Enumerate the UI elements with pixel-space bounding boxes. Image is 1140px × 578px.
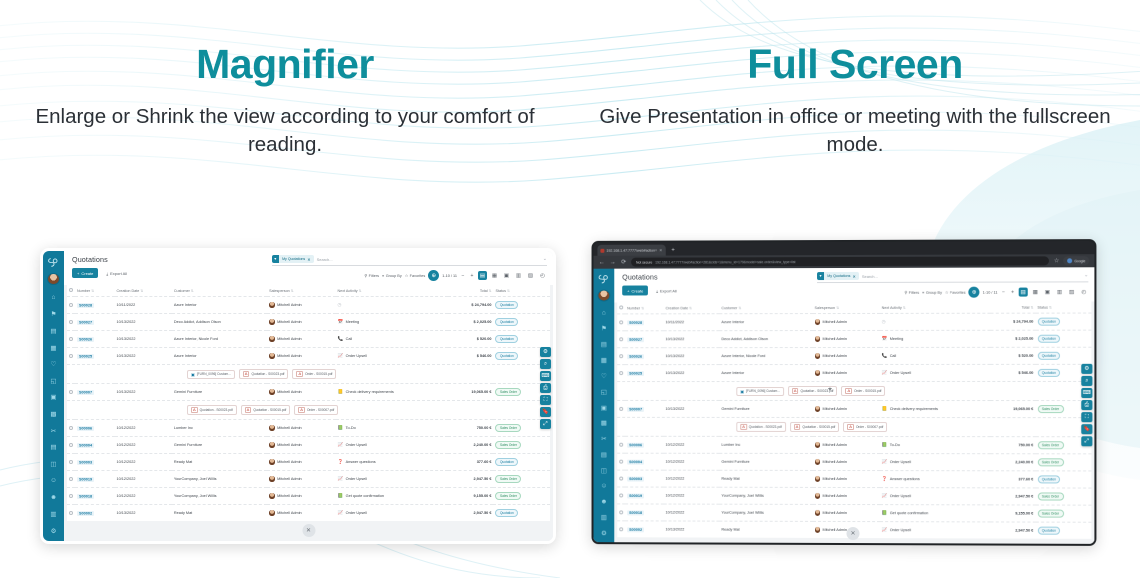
table-row[interactable]: S00019 10/12/2022 YourCompany, Joel Will… — [67, 470, 550, 487]
table-row[interactable]: S00026 10/13/2022 Azure Interior, Nicole… — [67, 330, 550, 347]
calendar-view-icon[interactable]: ▣ — [1043, 287, 1052, 296]
activity-icon: 📈 — [882, 371, 888, 376]
cell-customer: Gemini Furniture — [172, 436, 267, 453]
column-header-salesperson[interactable]: Salesperson ⇅ — [813, 302, 880, 313]
status-badge: Sales Order — [1037, 492, 1063, 500]
clock-icon: ◷ — [338, 302, 342, 307]
create-button[interactable]: + Create — [72, 268, 98, 278]
cell-next-activity[interactable]: 📞Call — [336, 330, 449, 347]
sidebar-item-bell[interactable]: ⌂ — [597, 307, 610, 319]
cell-salesperson: Mitchell Admin — [267, 436, 335, 453]
sidebar-item-heart[interactable]: ♡ — [597, 370, 610, 382]
column-header-creation_date[interactable]: Creation Date ⇅ — [664, 302, 720, 313]
favorites-label: Favorites — [950, 290, 966, 294]
close-fab-button[interactable]: ✕ — [302, 524, 315, 537]
cell-customer: Ready Mat — [719, 521, 812, 538]
filters-button[interactable]: ⚲ Filters — [364, 273, 379, 278]
close-icon[interactable]: ✕ — [659, 248, 662, 253]
cell-total: 750.00 € — [991, 436, 1036, 453]
cell-next-activity[interactable]: 📗Get quote confirmation — [880, 504, 991, 521]
pager-prev-icon[interactable]: − — [1001, 289, 1007, 295]
cell-next-activity[interactable]: 📈Order Upsell — [880, 487, 991, 504]
kanban-view-icon[interactable]: ▦ — [1031, 288, 1040, 297]
magnifier-icon[interactable]: ⌕ — [540, 359, 551, 369]
cell-salesperson: Mitchell Admin — [813, 313, 880, 330]
cell-number[interactable]: S00026 — [75, 330, 115, 347]
filters-label: Filters — [909, 290, 919, 294]
sidebar-item-megaphone[interactable]: ⚑ — [597, 323, 610, 335]
pager-prev-icon[interactable]: − — [460, 273, 466, 279]
column-header-number[interactable]: Number ⇅ — [625, 302, 663, 313]
sidebar-item-apps[interactable]: ▩ — [597, 417, 610, 429]
cell-number[interactable]: S00007 — [625, 400, 663, 417]
cell-number[interactable]: S00007 — [75, 383, 115, 400]
sidebar-item-apps[interactable]: ▩ — [47, 408, 60, 421]
row-checkbox[interactable] — [67, 453, 75, 470]
cell-salesperson: Mitchell Admin — [267, 330, 335, 347]
quotations-table-wrapper[interactable]: Number ⇅Creation Date ⇅Customer ⇅Salespe… — [614, 301, 1094, 544]
table-row[interactable]: S00026 10/13/2022 Azure Interior, Nicole… — [617, 347, 1091, 364]
cell-next-activity[interactable]: 📈Order Upsell — [336, 347, 449, 364]
cell-next-activity[interactable]: 📈Order Upsell — [336, 470, 449, 487]
row-checkbox[interactable] — [617, 364, 625, 381]
cell-next-activity[interactable]: 📈Order Upsell — [880, 453, 991, 470]
cell-customer: YourCompany, Joel Willis — [719, 504, 812, 521]
back-icon[interactable]: ← — [598, 259, 605, 265]
attachment-chip[interactable]: AQuotation - S00015.pdf — [790, 422, 840, 432]
sidebar-item-book[interactable]: ▦ — [47, 341, 60, 354]
list-view-icon[interactable]: ▤ — [1019, 288, 1028, 297]
filters-button[interactable]: ⚲ Filters — [904, 290, 919, 295]
sidebar-item-megaphone[interactable]: ⚑ — [47, 308, 60, 321]
row-checkbox[interactable] — [617, 436, 625, 453]
cell-creation-date: 10/12/2022 — [115, 436, 172, 453]
table-row[interactable]: S00025 10/13/2022 Azure Interior Mitchel… — [617, 364, 1091, 381]
attachment-chip[interactable]: AQuotation - S00023.pdf — [239, 369, 289, 379]
table-row[interactable]: S00027 10/13/2022 Deco Addict, Addison O… — [617, 330, 1091, 348]
close-icon[interactable]: ✕ — [307, 257, 310, 262]
download-icon: ⤓ — [656, 288, 658, 293]
cell-next-activity[interactable]: ◷ — [336, 296, 449, 313]
chevron-down-icon[interactable]: ⌄ — [543, 256, 547, 262]
cell-status: Quotation — [1035, 522, 1091, 539]
sidebar-item-scissors[interactable]: ✂ — [47, 424, 60, 437]
sort-icon: ⇅ — [689, 306, 692, 310]
cell-number[interactable]: S00004 — [75, 436, 115, 453]
row-checkbox[interactable] — [617, 487, 625, 504]
settings-icon[interactable]: ⚙ — [540, 347, 551, 357]
cell-customer: Ready Mat — [719, 470, 812, 487]
cell-customer: YourCompany, Joel Willis — [719, 487, 812, 504]
activity-view-icon[interactable]: ◴ — [538, 271, 547, 280]
export-all-label: Export All — [110, 271, 127, 276]
activity-icon: 📅 — [338, 320, 344, 325]
sidebar-item-box[interactable]: ◫ — [47, 458, 60, 471]
sidebar-item-gear[interactable]: ⚙ — [47, 524, 60, 537]
table-row[interactable]: S00028 10/11/2022 Azure Interior Mitchel… — [67, 296, 550, 313]
close-icon[interactable]: ✕ — [852, 273, 855, 278]
row-checkbox[interactable] — [617, 400, 625, 417]
cell-next-activity[interactable]: 📈Order Upsell — [880, 521, 991, 538]
column-header-status[interactable]: Status ⇅ — [493, 285, 550, 296]
app-sidebar-rail: ⌂ ⚑ ▤ ▦ ♡ ◱ ▣ ▩ ✂ ▤ ◫ ☺ ☻ ▥ ⚙ — [43, 251, 64, 541]
column-header-number[interactable]: Number ⇅ — [75, 285, 115, 296]
bookmark-star-icon[interactable]: ☆ — [1053, 257, 1060, 264]
magnifier-button[interactable]: ⊕ — [428, 270, 439, 281]
cell-salesperson: Mitchell Admin — [813, 436, 880, 453]
cell-creation-date: 10/12/2022 — [115, 453, 172, 470]
magnifier-icon[interactable]: ⌕ — [1081, 376, 1092, 386]
table-row[interactable]: S00006 10/12/2022 Lumber Inc Mitchell Ad… — [617, 436, 1091, 454]
select-all-checkbox[interactable] — [67, 285, 75, 296]
cell-number[interactable]: S00028 — [75, 296, 115, 313]
pdf-file-icon: A — [243, 371, 250, 377]
cell-creation-date: 10/13/2022 — [115, 383, 172, 400]
sidebar-item-bell[interactable]: ⌂ — [47, 291, 60, 304]
activity-icon: 📗 — [338, 494, 344, 499]
cell-number[interactable]: S00002 — [75, 504, 115, 521]
activity-icon: 📗 — [882, 511, 888, 516]
avatar — [269, 459, 275, 465]
sidebar-item-calendar[interactable]: ▤ — [47, 325, 60, 338]
avatar — [269, 336, 275, 342]
cell-creation-date: 10/13/2022 — [664, 347, 720, 364]
favorites-button[interactable]: ☆ Favorites — [405, 273, 426, 278]
table-row[interactable]: S00027 10/13/2022 Deco Addict, Addison O… — [67, 313, 550, 330]
sidebar-item-box[interactable]: ◫ — [597, 465, 610, 477]
sort-icon: ⇅ — [191, 289, 194, 293]
row-checkbox[interactable] — [617, 330, 625, 347]
cell-status: Quotation — [493, 313, 550, 330]
fullscreen-icon[interactable]: ⛶ — [540, 395, 551, 405]
cell-next-activity[interactable]: 📗To-Do — [336, 419, 449, 436]
browser-tab[interactable]: 192.168.1.47:7777/web#action= ✕ — [597, 245, 665, 256]
row-checkbox[interactable] — [617, 470, 625, 487]
cell-salesperson: Mitchell Admin — [813, 347, 880, 364]
sidebar-item-heart[interactable]: ♡ — [47, 358, 60, 371]
expand-icon[interactable]: ⤢ — [540, 419, 551, 429]
calendar-view-icon[interactable]: ▣ — [502, 271, 511, 280]
cell-number[interactable]: S00006 — [75, 419, 115, 436]
sidebar-item-book[interactable]: ▦ — [597, 354, 610, 366]
cell-creation-date: 10/11/2022 — [115, 296, 172, 313]
cell-next-activity[interactable]: 📗To-Do — [880, 436, 991, 453]
column-header-next_activity[interactable]: Next Activity ⇅ — [880, 302, 991, 313]
cell-salesperson: Mitchell Admin — [813, 504, 880, 521]
reload-icon[interactable]: ⟳ — [620, 259, 627, 266]
cell-creation-date: 10/13/2022 — [115, 313, 172, 330]
group-by-label: Group By — [926, 290, 942, 294]
table-row[interactable]: S00006 10/12/2022 Lumber Inc Mitchell Ad… — [67, 419, 550, 436]
magnifier-button[interactable]: ⊕ — [969, 287, 980, 298]
cell-total: $ 24,794.00 — [448, 296, 493, 313]
cell-number[interactable]: S00019 — [75, 470, 115, 487]
cell-next-activity[interactable]: 📗Get quote confirmation — [336, 487, 449, 504]
create-button[interactable]: + Create — [622, 285, 648, 295]
table-row[interactable]: S00004 10/12/2022 Gemini Furniture Mitch… — [67, 436, 550, 453]
pager-value: 1-10 / 11 — [983, 290, 998, 294]
select-all-checkbox[interactable] — [617, 302, 625, 313]
cell-status: Quotation — [493, 453, 550, 470]
cell-salesperson: Mitchell Admin — [267, 296, 335, 313]
cell-next-activity[interactable]: ◷ — [880, 313, 991, 330]
cell-status: Quotation — [1035, 347, 1091, 364]
list-view-icon[interactable]: ▤ — [478, 271, 487, 280]
column-header-total[interactable]: Total ⇅ — [448, 285, 493, 296]
cell-status: Quotation — [493, 296, 550, 313]
sidebar-item-scissors[interactable]: ✂ — [597, 433, 610, 445]
attachment-chip[interactable]: AOrder - S00007.pdf — [843, 422, 887, 432]
attachment-chip[interactable]: ▣[FURN_0096] Custom... — [736, 387, 784, 396]
search-bar[interactable]: ▼ My Quotations ✕ Search... ⌄ — [817, 271, 1089, 283]
pager-next-icon[interactable]: + — [469, 273, 475, 279]
keyboard-icon[interactable]: ⌨ — [1081, 388, 1092, 398]
table-row[interactable]: S00003 10/12/2022 Ready Mat Mitchell Adm… — [617, 470, 1091, 488]
row-checkbox[interactable] — [617, 503, 625, 520]
row-checkbox[interactable] — [67, 470, 75, 487]
cell-next-activity[interactable]: 📈Order Upsell — [336, 504, 449, 521]
cell-next-activity[interactable]: 📅Meeting — [880, 330, 991, 347]
cell-number[interactable]: S00028 — [625, 313, 663, 330]
search-input[interactable]: Search... — [862, 273, 1081, 279]
attachment-chip[interactable]: AQuotation - S00023.pdf — [187, 405, 237, 415]
search-facet-label: My Quotations — [827, 274, 850, 278]
cell-next-activity[interactable]: ❓Answer questions — [880, 470, 991, 487]
table-row[interactable]: S00004 10/12/2022 Gemini Furniture Mitch… — [617, 453, 1091, 471]
cell-next-activity[interactable]: 📈Order Upsell — [880, 364, 991, 381]
cell-status: Quotation — [493, 330, 550, 347]
row-checkbox[interactable] — [67, 383, 75, 400]
quotations-table-wrapper[interactable]: Number ⇅Creation Date ⇅Customer ⇅Salespe… — [64, 285, 553, 541]
attachment-chip[interactable]: AOrder - S00007.pdf — [294, 405, 338, 415]
status-badge: Quotation — [1037, 318, 1060, 326]
status-badge: Quotation — [495, 301, 518, 309]
cell-number[interactable]: S00019 — [625, 487, 663, 504]
activity-icon: ❓ — [338, 460, 344, 465]
cell-salesperson: Mitchell Admin — [813, 330, 880, 347]
cell-total: $ 2,025.00 — [991, 330, 1036, 347]
activity-icon: ❓ — [882, 477, 888, 482]
column-header-total[interactable]: Total ⇅ — [991, 302, 1036, 313]
bookmark-icon[interactable]: 🔖 — [540, 407, 551, 417]
pdf-file-icon: A — [845, 388, 852, 394]
cell-number[interactable]: S00004 — [625, 453, 663, 470]
row-checkbox[interactable] — [617, 520, 625, 537]
sidebar-item-person[interactable]: ☺ — [47, 474, 60, 487]
search-facet-my-quotations[interactable]: ▼ My Quotations ✕ — [272, 255, 314, 263]
graph-view-icon[interactable]: ▨ — [1067, 287, 1076, 296]
attachment-chip[interactable]: AOrder - S00015.pdf — [841, 386, 885, 396]
browser-chrome: 192.168.1.47:7777/web#action= ✕ + ← → ⟳ … — [594, 241, 1095, 269]
favorites-button[interactable]: ☆ Favorites — [945, 290, 966, 295]
activity-icon: 📞 — [882, 354, 888, 359]
table-body: S00028 10/11/2022 Azure Interior Mitchel… — [617, 313, 1091, 539]
avatar[interactable] — [597, 289, 610, 301]
keyboard-icon[interactable]: ⌨ — [540, 371, 551, 381]
odoo-logo-icon — [596, 273, 611, 287]
cell-customer: Ready Mat — [172, 453, 267, 470]
export-all-button[interactable]: ⤓ Export All — [652, 285, 680, 295]
cell-number[interactable]: S00027 — [625, 330, 663, 347]
sidebar-item-building[interactable]: ▥ — [597, 512, 610, 524]
table-row[interactable]: S00002 10/13/2022 Ready Mat Mitchell Adm… — [67, 504, 550, 521]
column-header-customer[interactable]: Customer ⇅ — [719, 302, 812, 313]
cell-customer: YourCompany, Joel Willis — [172, 470, 267, 487]
sidebar-item-briefcase[interactable]: ▤ — [597, 449, 610, 461]
omnibox[interactable]: Not secure 192.168.1.47:7777/web#action=… — [631, 256, 1049, 266]
profile-label: Google — [1074, 259, 1085, 263]
table-row[interactable]: S00025 10/13/2022 Azure Interior Mitchel… — [67, 347, 550, 364]
sidebar-item-gear[interactable]: ⚙ — [597, 527, 610, 539]
new-tab-button[interactable]: + — [668, 246, 677, 256]
attachment-label: Quotation - S00023.pdf — [200, 408, 233, 412]
activity-view-icon[interactable]: ◴ — [1079, 287, 1088, 296]
cell-number[interactable]: S00025 — [625, 364, 663, 381]
sidebar-item-briefcase[interactable]: ▤ — [47, 441, 60, 454]
cell-number[interactable]: S00026 — [625, 347, 663, 364]
group-by-button[interactable]: ≡ Group By — [922, 290, 942, 294]
print-icon[interactable]: ⎙ — [540, 383, 551, 393]
status-badge: Sales Order — [1037, 510, 1063, 518]
sidebar-item-grid[interactable]: ▣ — [597, 402, 610, 414]
cell-customer: Azure Interior — [172, 296, 267, 313]
row-checkbox[interactable] — [67, 487, 75, 504]
cell-number[interactable]: S00003 — [625, 470, 663, 487]
column-header-customer[interactable]: Customer ⇅ — [172, 285, 267, 296]
cell-number[interactable]: S00025 — [75, 347, 115, 364]
row-checkbox[interactable] — [67, 296, 75, 313]
cell-number[interactable]: S00003 — [75, 453, 115, 470]
cell-next-activity[interactable]: 📅Meeting — [336, 313, 449, 330]
column-header-creation_date[interactable]: Creation Date ⇅ — [115, 285, 172, 296]
cell-creation-date: 10/12/2022 — [664, 436, 720, 453]
fullscreen-icon[interactable]: ⛶ — [1081, 412, 1092, 422]
sidebar-item-chart[interactable]: ◱ — [47, 375, 60, 388]
cell-number[interactable]: S00006 — [625, 436, 663, 453]
row-checkbox[interactable] — [67, 330, 75, 347]
cell-next-activity[interactable]: 📞Call — [880, 347, 991, 364]
pager-next-icon[interactable]: + — [1010, 289, 1016, 295]
graph-view-icon[interactable]: ▨ — [526, 271, 535, 280]
sidebar-item-calendar[interactable]: ▤ — [597, 339, 610, 351]
cell-number[interactable]: S00018 — [625, 503, 663, 520]
quotations-table: Number ⇅Creation Date ⇅Customer ⇅Salespe… — [67, 285, 550, 521]
avatar — [815, 353, 820, 359]
row-checkbox[interactable] — [617, 313, 625, 330]
print-icon[interactable]: ⎙ — [1081, 400, 1092, 410]
cell-number[interactable]: S00018 — [75, 487, 115, 504]
sort-icon: ⇅ — [489, 289, 492, 293]
attachment-chip[interactable]: AQuotation - S00023.pdf — [736, 422, 785, 432]
close-fab-button[interactable]: ✕ — [846, 527, 859, 540]
row-checkbox[interactable] — [67, 347, 75, 364]
cell-next-activity[interactable]: ❓Answer questions — [336, 453, 449, 470]
table-row[interactable]: S00003 10/12/2022 Ready Mat Mitchell Adm… — [67, 453, 550, 470]
avatar — [815, 493, 820, 499]
activity-icon: 📒 — [882, 407, 888, 412]
column-header-salesperson[interactable]: Salesperson ⇅ — [267, 285, 335, 296]
row-checkbox[interactable] — [617, 453, 625, 470]
attachment-chip[interactable]: ▣[FURN_0096] Custom... — [187, 370, 235, 379]
cell-customer: Gemini Furniture — [719, 453, 812, 470]
avatar — [815, 476, 820, 482]
sidebar-item-building[interactable]: ▥ — [47, 508, 60, 521]
image-file-icon: ▣ — [740, 389, 744, 394]
sidebar-item-people[interactable]: ☻ — [47, 491, 60, 504]
row-checkbox[interactable] — [67, 419, 75, 436]
forward-icon[interactable]: → — [609, 259, 616, 265]
table-row[interactable]: S00007 10/13/2022 Gemini Furniture Mitch… — [67, 383, 550, 400]
cell-total: 750.00 € — [448, 419, 493, 436]
status-badge: Sales Order — [1037, 458, 1063, 466]
page-subtitle-fullscreen: Give Presentation in office or meeting w… — [570, 103, 1140, 158]
export-all-button[interactable]: ⤓ Export All — [102, 268, 131, 278]
expand-icon[interactable]: ⤢ — [1081, 436, 1092, 446]
sort-icon: ⇅ — [91, 289, 94, 293]
cell-salesperson: Mitchell Admin — [267, 313, 335, 330]
cell-number[interactable]: S00027 — [75, 313, 115, 330]
table-row[interactable]: S00028 10/11/2022 Azure Interior Mitchel… — [617, 313, 1091, 331]
search-bar[interactable]: ▼ My Quotations ✕ Search... ⌄ — [272, 255, 548, 266]
search-input[interactable]: Search... — [317, 257, 540, 262]
cell-number[interactable]: S00002 — [625, 520, 663, 537]
sidebar-item-people[interactable]: ☻ — [597, 496, 610, 508]
sidebar-item-grid[interactable]: ▣ — [47, 391, 60, 404]
kanban-view-icon[interactable]: ▦ — [490, 271, 499, 280]
cell-status: Sales Order — [493, 470, 550, 487]
image-file-icon: ▣ — [191, 372, 195, 377]
settings-icon[interactable]: ⚙ — [1081, 364, 1092, 374]
cell-creation-date: 10/11/2022 — [664, 313, 720, 330]
browser-profile-chip[interactable]: Google — [1063, 256, 1089, 265]
chevron-down-icon[interactable]: ⌄ — [1084, 272, 1088, 278]
pivot-view-icon[interactable]: ▥ — [1055, 287, 1064, 296]
table-row[interactable]: S00019 10/12/2022 YourCompany, Joel Will… — [617, 487, 1091, 505]
avatar — [269, 302, 275, 308]
row-checkbox[interactable] — [617, 347, 625, 364]
screenshot-magnifier: ⌂ ⚑ ▤ ▦ ♡ ◱ ▣ ▩ ✂ ▤ ◫ ☺ ☻ ▥ ⚙ Quotations — [40, 248, 556, 544]
bookmark-icon[interactable]: 🔖 — [1081, 424, 1092, 434]
column-header-status[interactable]: Status ⇅ — [1035, 301, 1091, 312]
table-row[interactable]: S00007 10/13/2022 Gemini Furniture Mitch… — [617, 400, 1091, 417]
pdf-file-icon: A — [296, 371, 303, 377]
row-checkbox[interactable] — [67, 436, 75, 453]
row-checkbox[interactable] — [67, 504, 75, 521]
table-row[interactable]: S00018 10/12/2022 YourCompany, Joel Will… — [67, 487, 550, 504]
cell-next-activity[interactable]: 📈Order Upsell — [336, 436, 449, 453]
row-checkbox[interactable] — [67, 313, 75, 330]
avatar — [269, 389, 275, 395]
attachment-chip[interactable]: AQuotation - S00015.pdf — [241, 405, 291, 415]
cell-next-activity[interactable]: 📒Check delivery requirements — [336, 383, 449, 400]
attachment-chip[interactable]: AOrder - S00015.pdf — [292, 369, 336, 379]
search-facet-my-quotations[interactable]: ▼ My Quotations ✕ — [817, 272, 859, 280]
sidebar-item-person[interactable]: ☺ — [597, 480, 610, 492]
cell-next-activity[interactable]: 📒Check delivery requirements — [880, 400, 991, 417]
group-by-button[interactable]: ≡ Group By — [382, 274, 402, 278]
sidebar-item-chart[interactable]: ◱ — [597, 386, 610, 398]
column-header-next_activity[interactable]: Next Activity ⇅ — [336, 285, 449, 296]
cell-creation-date: 10/12/2022 — [664, 453, 720, 470]
attachment-label: Quotation - S00023.pdf — [251, 372, 284, 376]
pivot-view-icon[interactable]: ▥ — [514, 271, 523, 280]
table-row[interactable]: S00018 10/12/2022 YourCompany, Joel Will… — [617, 503, 1091, 521]
cell-salesperson: Mitchell Admin — [267, 383, 335, 400]
plus-icon: + — [77, 271, 79, 276]
cell-salesperson: Mitchell Admin — [267, 419, 335, 436]
avatar[interactable] — [47, 273, 60, 286]
attachment-label: Quotation - S00023.pdf — [749, 425, 782, 429]
